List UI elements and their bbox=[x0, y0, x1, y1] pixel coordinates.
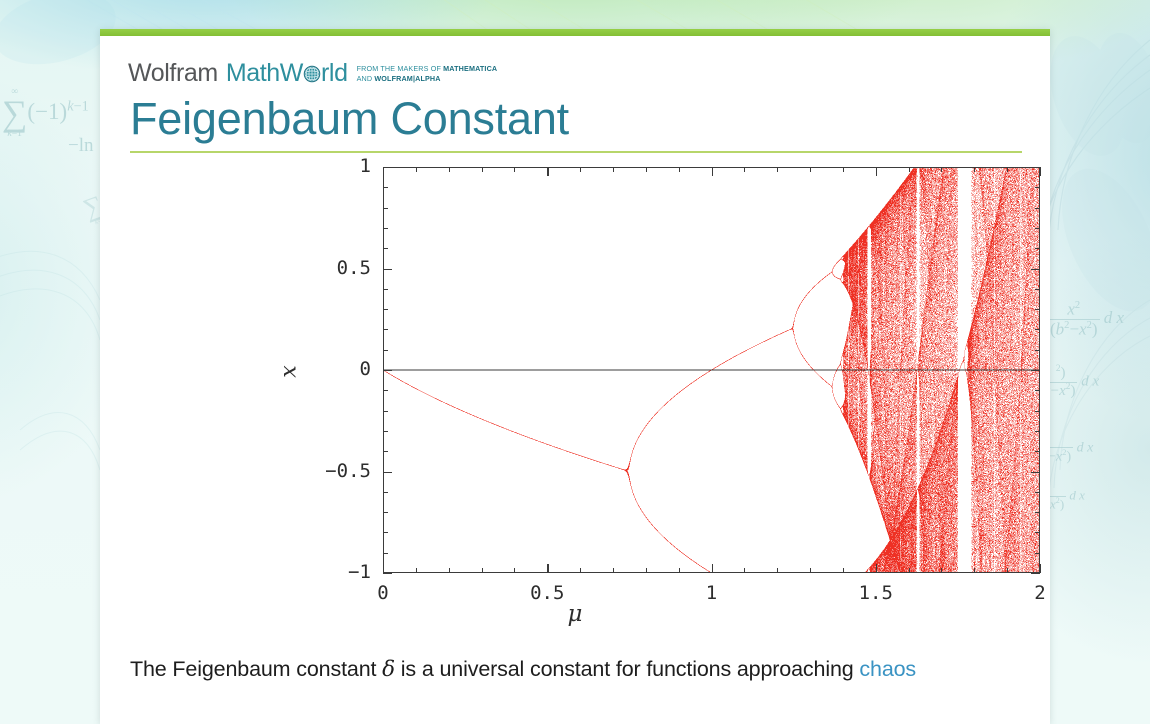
tagline-2-bold: WOLFRAM|ALPHA bbox=[374, 74, 440, 83]
tagline-2-pre: AND bbox=[357, 74, 375, 83]
card-accent-bar bbox=[100, 29, 1050, 36]
tagline-line-2: AND WOLFRAM|ALPHA bbox=[357, 74, 441, 83]
y-tick-label: −0.5 bbox=[271, 460, 371, 482]
logo-w-part: W bbox=[280, 61, 303, 86]
axis-tick-mark bbox=[1040, 564, 1041, 573]
y-tick-label: −1 bbox=[271, 561, 371, 583]
logo-math-part: Math bbox=[226, 61, 280, 86]
axis-tick-mark bbox=[383, 573, 392, 574]
content-card: Wolfram MathWrld FROM THE MAKERS OF MATH… bbox=[100, 29, 1050, 724]
y-tick-label: 1 bbox=[271, 155, 371, 177]
chaos-link[interactable]: chaos bbox=[859, 657, 916, 681]
tagline-line-1: FROM THE MAKERS OF MATHEMATICA bbox=[357, 64, 498, 73]
caption-text-before: The Feigenbaum constant bbox=[130, 657, 382, 681]
logo-mathworld-text: MathWrld bbox=[226, 61, 348, 86]
page-title: Feigenbaum Constant bbox=[130, 92, 1050, 145]
logo-rld-part: rld bbox=[321, 61, 348, 86]
tagline-1-pre: FROM THE MAKERS OF bbox=[357, 64, 444, 73]
figure-caption: The Feigenbaum constant δ is a universal… bbox=[130, 655, 1050, 684]
x-axis-label: μ bbox=[195, 601, 955, 627]
mathworld-logo[interactable]: Wolfram MathWrld FROM THE MAKERS OF MATH… bbox=[100, 36, 1050, 86]
tagline-1-bold: MATHEMATICA bbox=[443, 64, 497, 73]
y-tick-label: 0.5 bbox=[271, 257, 371, 279]
x-tick-label: 2 bbox=[1000, 582, 1050, 604]
logo-tagline: FROM THE MAKERS OF MATHEMATICA AND WOLFR… bbox=[357, 64, 498, 83]
globe-icon bbox=[303, 63, 321, 81]
logo-wolfram-text: Wolfram bbox=[128, 61, 218, 86]
axis-tick-mark bbox=[1031, 573, 1040, 574]
y-axis-label: x bbox=[277, 365, 302, 377]
bifurcation-figure: 10.50−0.5−1 00.511.52 x μ bbox=[195, 153, 955, 653]
caption-text-after: is a universal constant for functions ap… bbox=[395, 657, 859, 681]
axis-tick-mark bbox=[1040, 167, 1041, 176]
caption-delta-symbol: δ bbox=[382, 657, 395, 682]
bifurcation-diagram-canvas bbox=[383, 167, 1040, 573]
